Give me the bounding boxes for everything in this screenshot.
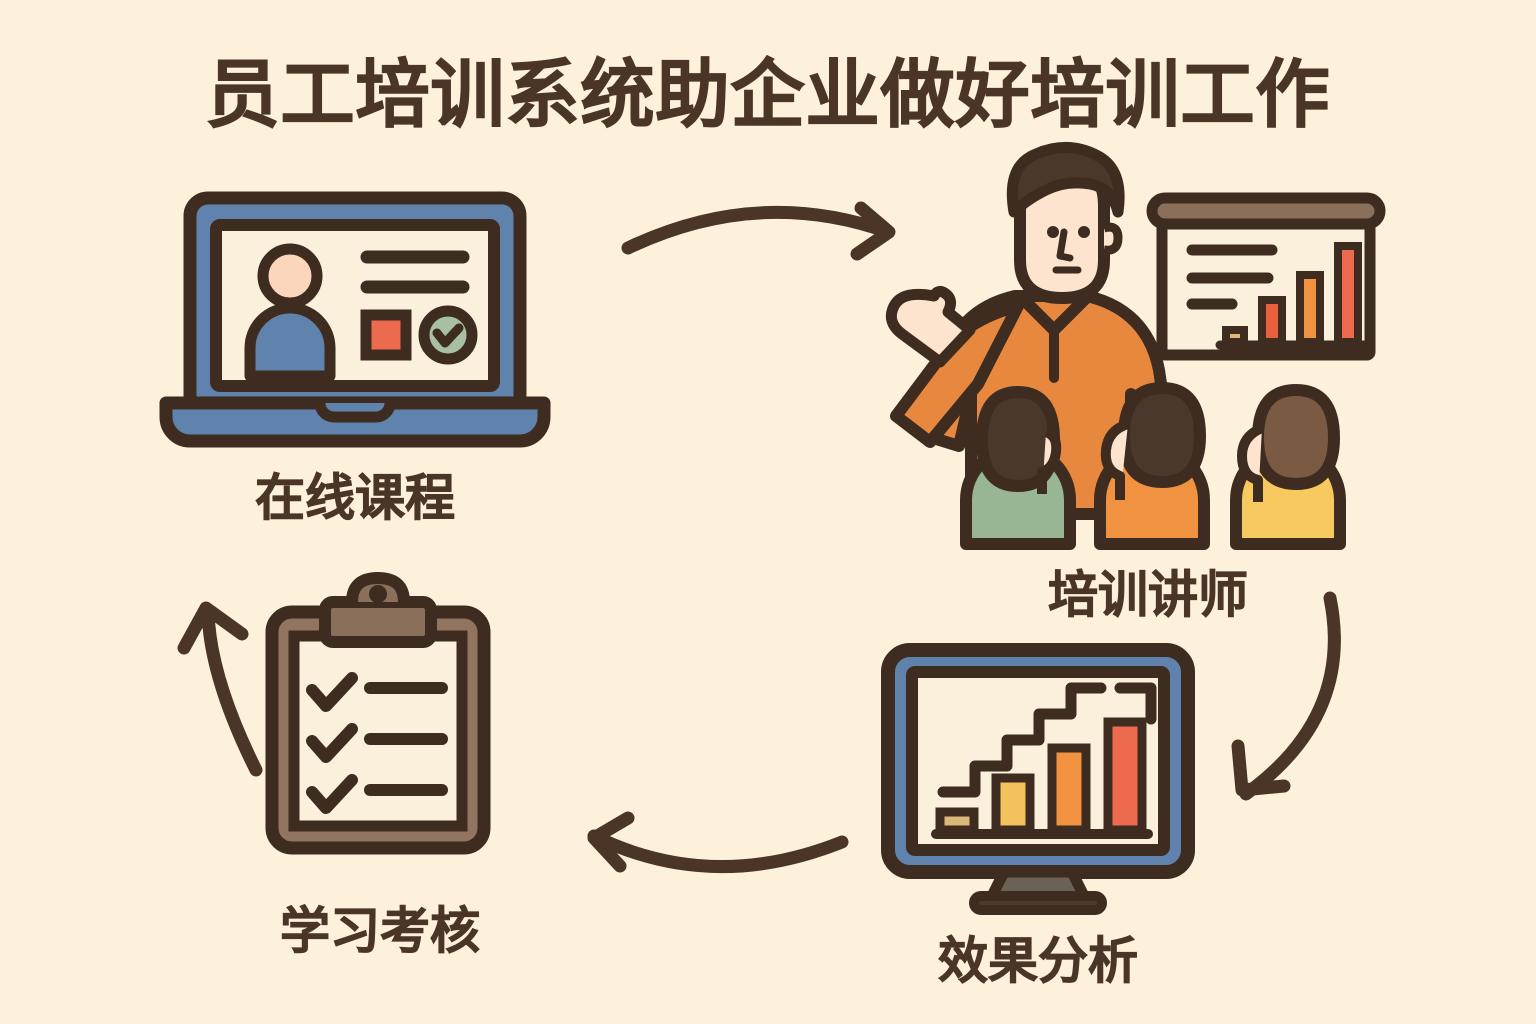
audience-member-2-head <box>1124 388 1200 482</box>
page-title: 员工培训系统助企业做好培训工作 <box>206 53 1331 136</box>
monitor-bar-4 <box>1108 722 1142 830</box>
red-square-tile <box>366 315 406 355</box>
laptop-trackpad-notch <box>320 403 390 417</box>
instructor-eye-right <box>1078 226 1090 238</box>
whiteboard-bar-3 <box>1300 275 1320 342</box>
monitor-bar-2 <box>996 778 1030 830</box>
audience-member-3-head <box>1258 390 1334 484</box>
laptop-icon <box>166 198 544 441</box>
monitor-growth-chart-icon <box>888 650 1188 910</box>
user-avatar-head <box>263 249 317 303</box>
user-avatar-body <box>250 308 330 376</box>
training-cycle-diagram: 员工培训系统助企业做好培训工作 在线课程 <box>0 0 1536 1024</box>
node-label-online-course: 在线课程 <box>255 470 455 526</box>
monitor-bar-3 <box>1052 748 1086 830</box>
node-label-learning-assessment: 学习考核 <box>280 903 480 959</box>
instructor-eye-left <box>1047 226 1059 238</box>
whiteboard-bar-1 <box>1226 330 1244 342</box>
whiteboard-bar-4 <box>1338 246 1358 342</box>
whiteboard-bar-2 <box>1262 300 1282 342</box>
infographic-canvas: 员工培训系统助企业做好培训工作 在线课程 <box>0 0 1536 1024</box>
clipboard-clip-hole <box>369 585 387 603</box>
monitor-stand-base <box>974 896 1102 910</box>
clipboard-clip <box>325 602 431 642</box>
node-label-training-instructor: 培训讲师 <box>1048 567 1248 623</box>
monitor-bar-1 <box>940 812 974 830</box>
node-label-effect-analysis: 效果分析 <box>938 933 1138 989</box>
whiteboard-top-bar <box>1152 198 1380 224</box>
instructor-ear <box>1104 227 1118 250</box>
clipboard-checklist-icon <box>272 578 484 848</box>
